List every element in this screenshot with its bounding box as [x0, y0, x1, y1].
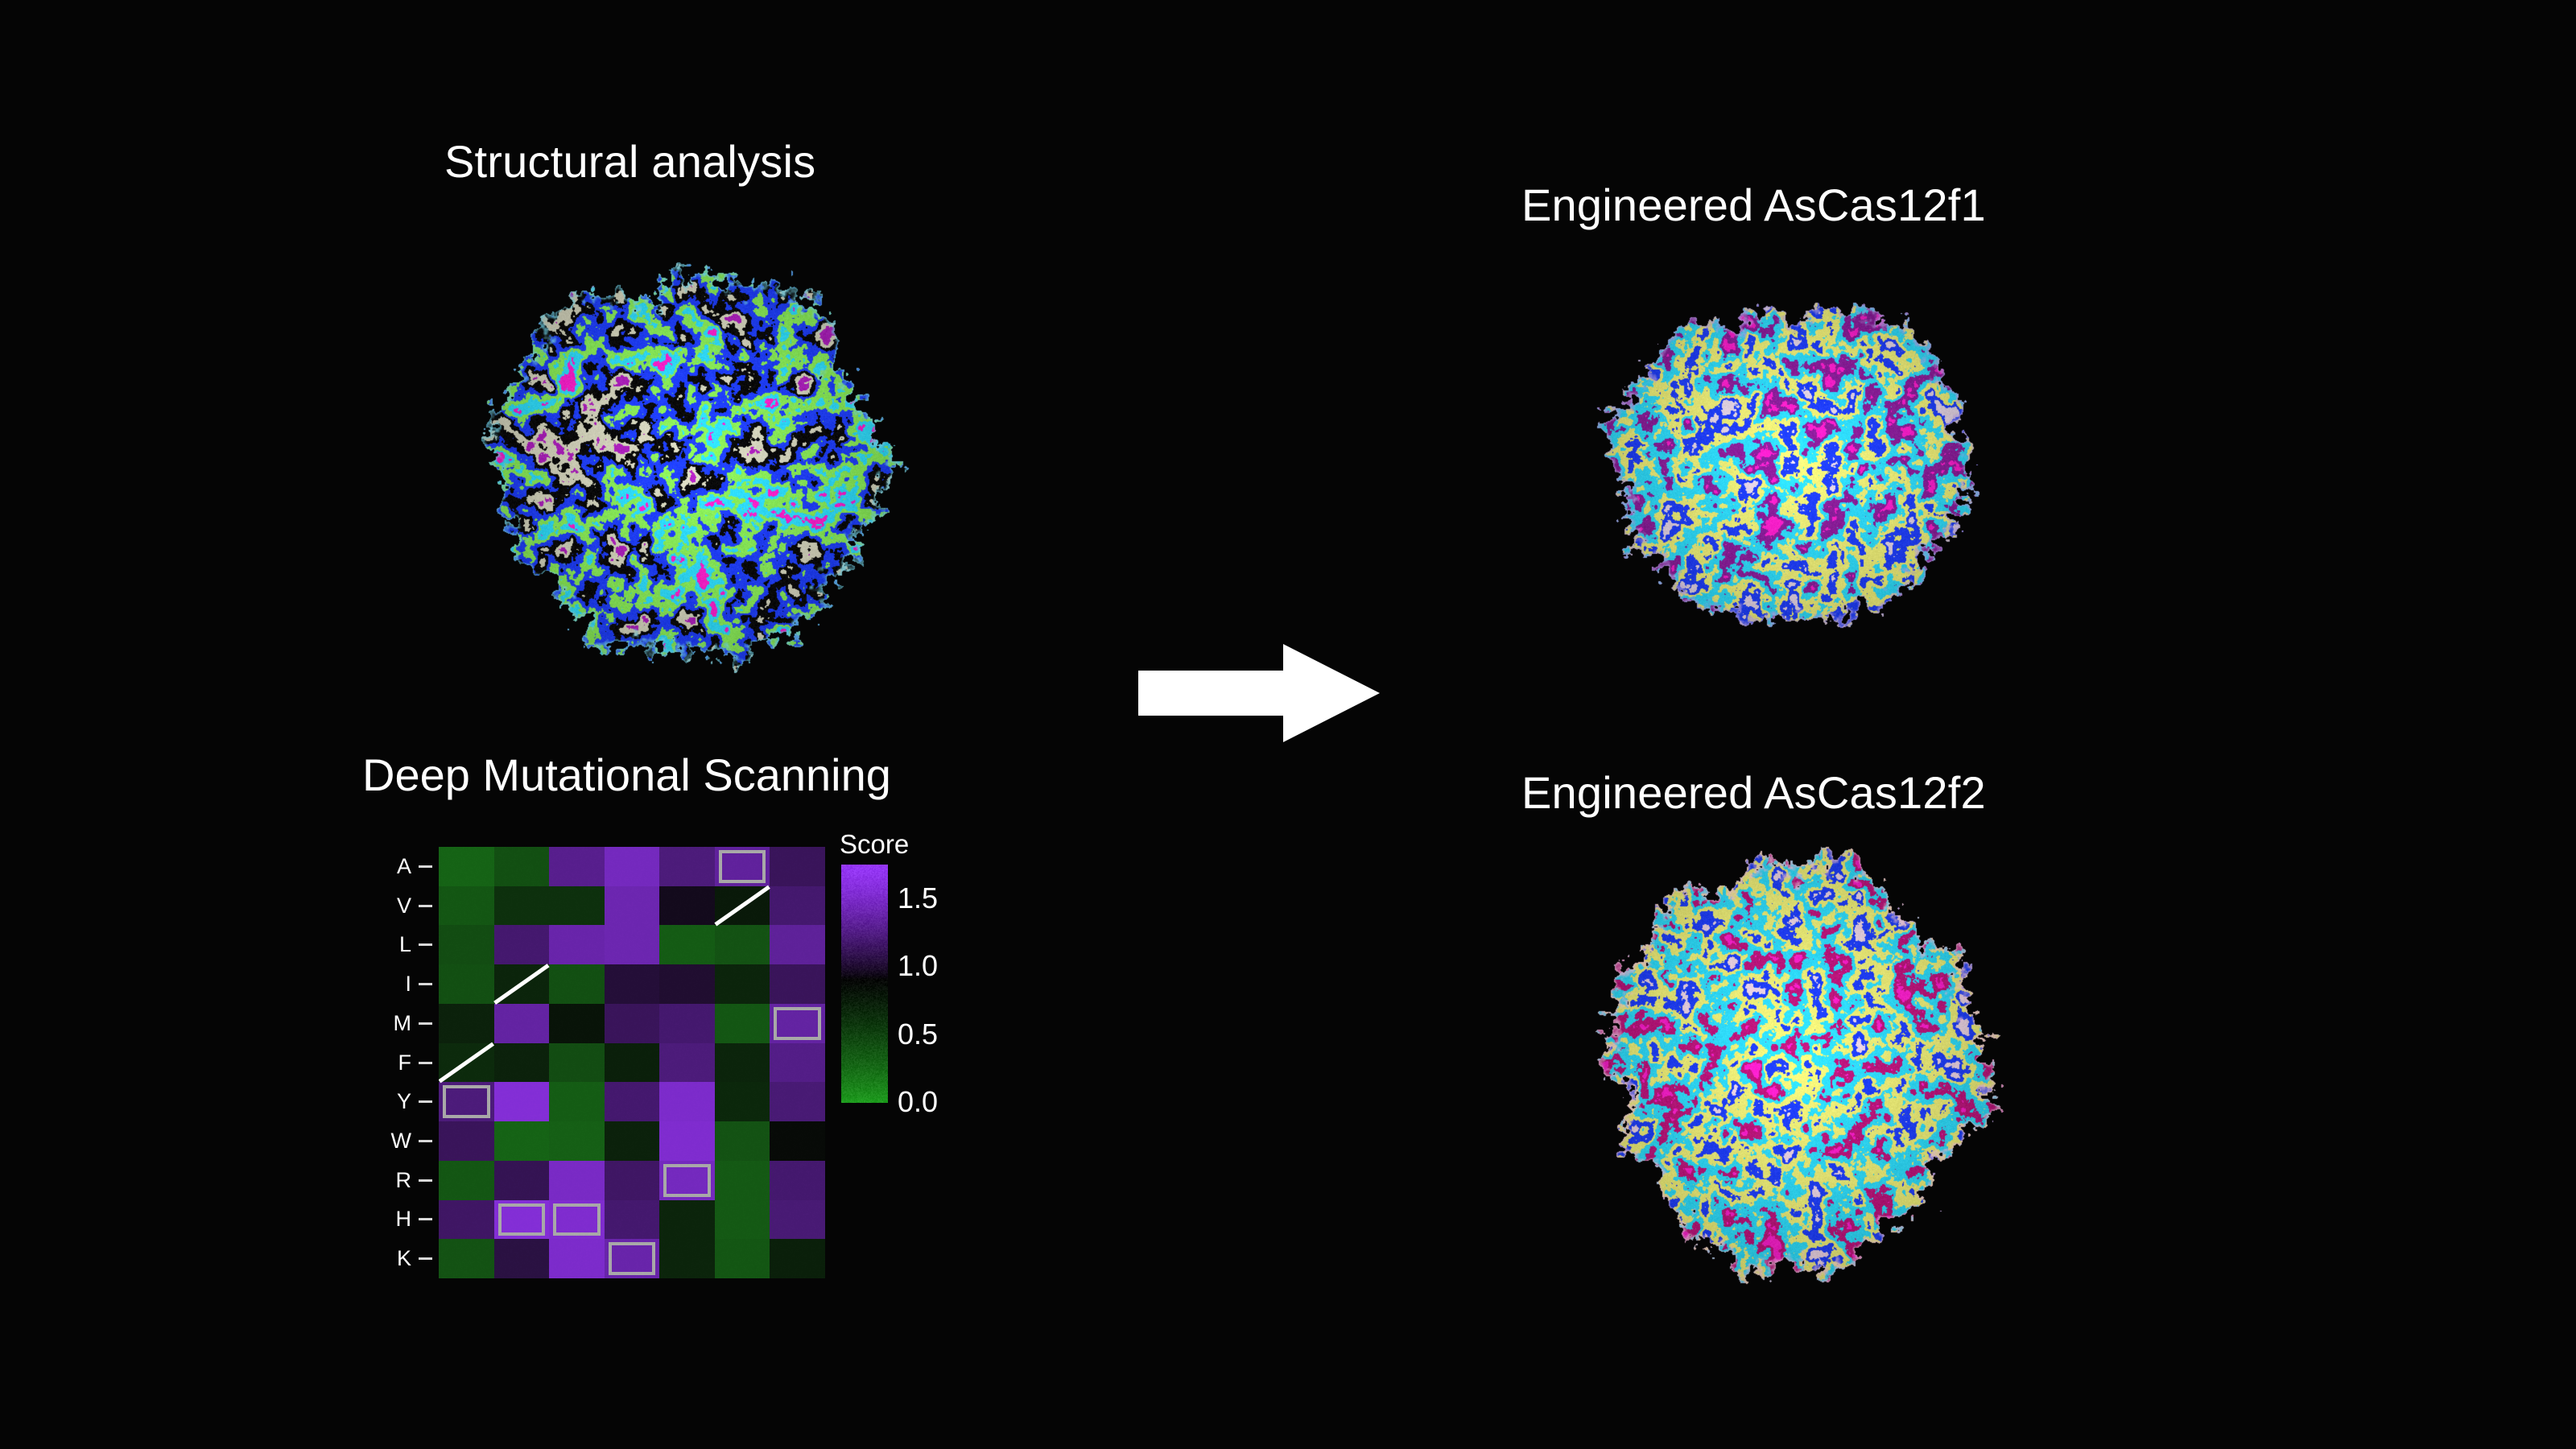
colorbar: Score 1.51.00.50.0 [840, 829, 993, 1167]
heatmap-cell[interactable] [494, 1004, 550, 1043]
heatmap-y-tick-l: L [349, 925, 432, 964]
heatmap-cell[interactable] [770, 847, 825, 886]
heatmap-cell[interactable] [605, 1043, 660, 1083]
heatmap-container: AVLIMFYWRHK [439, 847, 825, 1278]
heatmap-cell[interactable] [549, 964, 605, 1004]
heatmap-cell[interactable] [659, 1043, 715, 1083]
heatmap-y-tick-w: W [349, 1121, 432, 1161]
tick-mark-icon [419, 1257, 432, 1260]
heatmap-cell[interactable] [770, 1200, 825, 1240]
tick-mark-icon [419, 1062, 432, 1064]
colorbar-tick-labels: 1.51.00.50.0 [898, 865, 986, 1103]
heatmap-y-tick-label: W [391, 1130, 411, 1152]
heatmap-cell[interactable] [659, 925, 715, 964]
tick-mark-icon [419, 1022, 432, 1025]
tick-mark-icon [419, 983, 432, 985]
heatmap-cell[interactable] [549, 1200, 605, 1240]
heatmap-cell[interactable] [605, 925, 660, 964]
heatmap-cell[interactable] [494, 847, 550, 886]
heatmap-cell[interactable] [659, 1121, 715, 1161]
heatmap-cell[interactable] [715, 1239, 770, 1278]
deep-mutational-scanning-panel: Deep Mutational Scanning AVLIMFYWRHK Sco… [346, 749, 1006, 1312]
heatmap-y-tick-f: F [349, 1043, 432, 1083]
heatmap-y-tick-label: A [397, 856, 411, 877]
heatmap-cell[interactable] [439, 1239, 494, 1278]
colorbar-tick-0-5: 0.5 [898, 1018, 938, 1051]
heatmap-cell[interactable] [549, 1121, 605, 1161]
heatmap-y-tick-label: Y [397, 1091, 411, 1113]
heatmap-y-tick-m: M [349, 1004, 432, 1043]
figure-root: Structural analysis Engineered AsCas12f1… [0, 0, 2576, 1449]
heatmap-cell[interactable] [715, 886, 770, 926]
structure-render-engineered-ascas12f1 [1570, 266, 2021, 668]
heatmap-cell[interactable] [770, 1161, 825, 1200]
page-title-engineered-ascas12f1: Engineered AsCas12f1 [1521, 179, 1986, 231]
heatmap-cell[interactable] [770, 1121, 825, 1161]
heatmap-cell[interactable] [715, 847, 770, 886]
heatmap-cell[interactable] [770, 886, 825, 926]
tick-mark-icon [419, 1218, 432, 1220]
heatmap-cell[interactable] [494, 964, 550, 1004]
heatmap-y-axis: AVLIMFYWRHK [349, 847, 432, 1278]
heatmap-cell[interactable] [439, 1082, 494, 1121]
heatmap-cell[interactable] [605, 964, 660, 1004]
heatmap-cell[interactable] [439, 1043, 494, 1083]
heatmap-cell[interactable] [439, 886, 494, 926]
heatmap-y-tick-label: R [396, 1170, 412, 1191]
heatmap-cell[interactable] [439, 1200, 494, 1240]
tick-mark-icon [419, 1100, 432, 1103]
heatmap-cell[interactable] [494, 1121, 550, 1161]
tick-mark-icon [419, 905, 432, 907]
heatmap-cell[interactable] [439, 1161, 494, 1200]
heatmap-cell[interactable] [770, 1082, 825, 1121]
heatmap-y-tick-label: I [405, 973, 411, 995]
heatmap-cell[interactable] [770, 1239, 825, 1278]
heatmap-cell[interactable] [605, 1239, 660, 1278]
page-title-structural-analysis: Structural analysis [444, 135, 815, 188]
heatmap-cell[interactable] [715, 1004, 770, 1043]
heatmap-cell[interactable] [549, 847, 605, 886]
heatmap-cell[interactable] [549, 1043, 605, 1083]
colorbar-tick-1: 1.0 [898, 949, 938, 983]
heatmap-cell[interactable] [770, 1004, 825, 1043]
heatmap-cell[interactable] [659, 964, 715, 1004]
heatmap-cell[interactable] [494, 1200, 550, 1240]
colorbar-label: Score [840, 829, 909, 860]
page-title-engineered-ascas12f2: Engineered AsCas12f2 [1521, 766, 1986, 819]
heatmap-cell[interactable] [605, 847, 660, 886]
heatmap-cell[interactable] [659, 1004, 715, 1043]
heatmap-cell[interactable] [659, 1200, 715, 1240]
heatmap-y-tick-h: H [349, 1200, 432, 1240]
heatmap-cell[interactable] [605, 1161, 660, 1200]
heatmap-y-tick-label: K [397, 1248, 411, 1269]
heatmap-cell[interactable] [659, 1161, 715, 1200]
heatmap-cell[interactable] [494, 886, 550, 926]
heatmap-cell[interactable] [494, 1239, 550, 1278]
heatmap-cell[interactable] [549, 1239, 605, 1278]
heatmap-cell[interactable] [715, 1200, 770, 1240]
heatmap-y-tick-v: V [349, 886, 432, 926]
tick-mark-icon [419, 1179, 432, 1182]
heatmap-cell[interactable] [494, 1082, 550, 1121]
heatmap-y-tick-label: V [397, 895, 411, 917]
tick-mark-icon [419, 865, 432, 868]
heatmap-cell[interactable] [770, 1043, 825, 1083]
heatmap-y-tick-r: R [349, 1161, 432, 1200]
heatmap-cell[interactable] [770, 925, 825, 964]
tick-mark-icon [419, 1140, 432, 1142]
heatmap-cell[interactable] [715, 1161, 770, 1200]
heatmap-cell[interactable] [715, 1121, 770, 1161]
heatmap-cell[interactable] [549, 886, 605, 926]
heatmap-cell[interactable] [549, 1161, 605, 1200]
structure-render-engineered-ascas12f2 [1562, 813, 2029, 1312]
structure-render-structural-analysis [451, 217, 934, 716]
heatmap-cell[interactable] [439, 964, 494, 1004]
heatmap-cell[interactable] [549, 1004, 605, 1043]
heatmap-cell[interactable] [715, 1043, 770, 1083]
heatmap-y-tick-label: M [394, 1013, 412, 1034]
heatmap-y-tick-label: L [399, 934, 411, 956]
heatmap-y-tick-i: I [349, 964, 432, 1004]
heatmap-cell[interactable] [549, 925, 605, 964]
heatmap-cell[interactable] [715, 1082, 770, 1121]
heatmap-cell[interactable] [439, 1004, 494, 1043]
heatmap-cell[interactable] [605, 886, 660, 926]
heatmap-cell[interactable] [605, 1121, 660, 1161]
heatmap-y-tick-k: K [349, 1239, 432, 1278]
heatmap-cell[interactable] [549, 1082, 605, 1121]
heatmap-cell[interactable] [494, 1043, 550, 1083]
heatmap-cell[interactable] [439, 847, 494, 886]
page-title-deep-mutational-scanning: Deep Mutational Scanning [362, 749, 891, 801]
heatmap-cell[interactable] [605, 1004, 660, 1043]
colorbar-tick-1-5: 1.5 [898, 881, 938, 915]
tick-mark-icon [419, 943, 432, 946]
heatmap-cell[interactable] [659, 886, 715, 926]
heatmap-cell[interactable] [439, 925, 494, 964]
heatmap-y-tick-label: H [396, 1208, 412, 1230]
heatmap-cell[interactable] [494, 925, 550, 964]
colorbar-tick-0: 0.0 [898, 1085, 938, 1119]
heatmap-cell[interactable] [605, 1082, 660, 1121]
heatmap-cell[interactable] [715, 925, 770, 964]
heatmap-cell[interactable] [659, 1239, 715, 1278]
heatmap-cell[interactable] [715, 964, 770, 1004]
heatmap-y-tick-label: F [398, 1052, 412, 1074]
heatmap-cell[interactable] [770, 964, 825, 1004]
colorbar-gradient [841, 865, 888, 1103]
heatmap-y-tick-y: Y [349, 1082, 432, 1121]
heatmap-grid[interactable] [439, 847, 825, 1278]
heatmap-cell[interactable] [659, 1082, 715, 1121]
heatmap-y-tick-a: A [349, 847, 432, 886]
heatmap-cell[interactable] [439, 1121, 494, 1161]
heatmap-cell[interactable] [494, 1161, 550, 1200]
heatmap-cell[interactable] [659, 847, 715, 886]
heatmap-cell[interactable] [605, 1200, 660, 1240]
right-arrow-icon [1138, 644, 1380, 742]
